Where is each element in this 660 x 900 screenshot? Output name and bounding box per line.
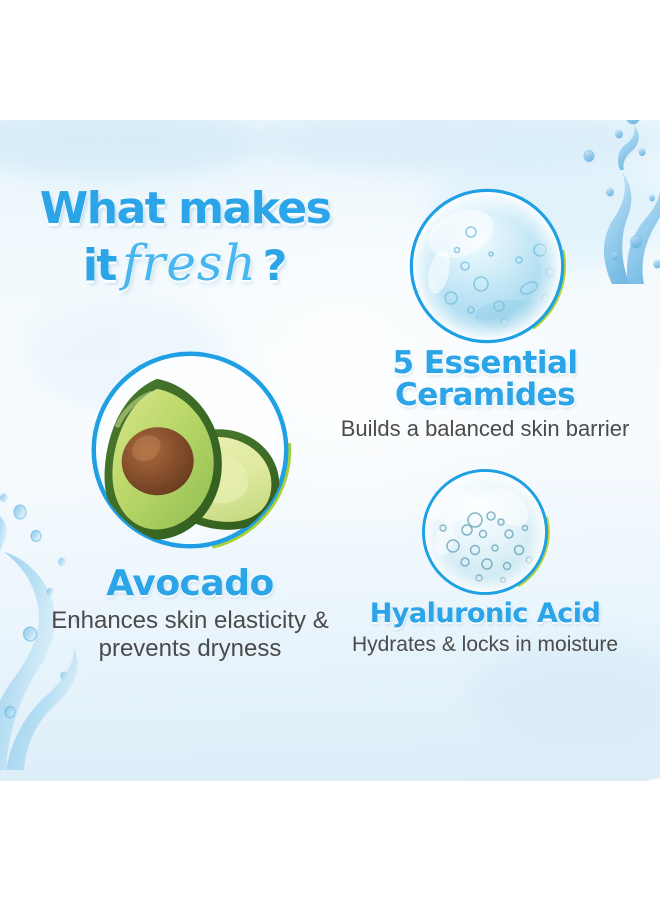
- headline-word-it: it: [83, 240, 116, 291]
- headline-line-1: What makes: [30, 186, 340, 232]
- feature-ceramides: 5 Essential Ceramides Builds a balanced …: [340, 188, 630, 442]
- feature-description: Builds a balanced skin barrier: [340, 416, 630, 442]
- feature-title: 5 Essential Ceramides: [340, 348, 630, 411]
- feature-hyaluronic: Hyaluronic Acid Hydrates & locks in mois…: [340, 468, 630, 657]
- headline-question-mark: ?: [263, 241, 287, 290]
- feature-title: Hyaluronic Acid: [340, 600, 630, 628]
- avocado-halves-photo: [77, 350, 303, 566]
- feature-title: Avocado: [40, 566, 340, 603]
- blue-gel-droplet-photo: [395, 188, 575, 348]
- clear-gel-blob-photo: [409, 468, 561, 600]
- feature-avocado: Avocado Enhances skin elasticity & preve…: [40, 350, 340, 662]
- feature-description: Enhances skin elasticity & prevents dryn…: [40, 607, 340, 663]
- poster-canvas: What makes it fresh ?: [0, 0, 660, 900]
- headline-word-fresh: fresh: [122, 234, 257, 292]
- top-white-band: [0, 0, 660, 120]
- bottom-white-band: [0, 781, 660, 900]
- headline-block: What makes it fresh ?: [30, 186, 340, 292]
- feature-description: Hydrates & locks in moisture: [340, 633, 630, 657]
- headline-line-2: it fresh ?: [30, 234, 340, 292]
